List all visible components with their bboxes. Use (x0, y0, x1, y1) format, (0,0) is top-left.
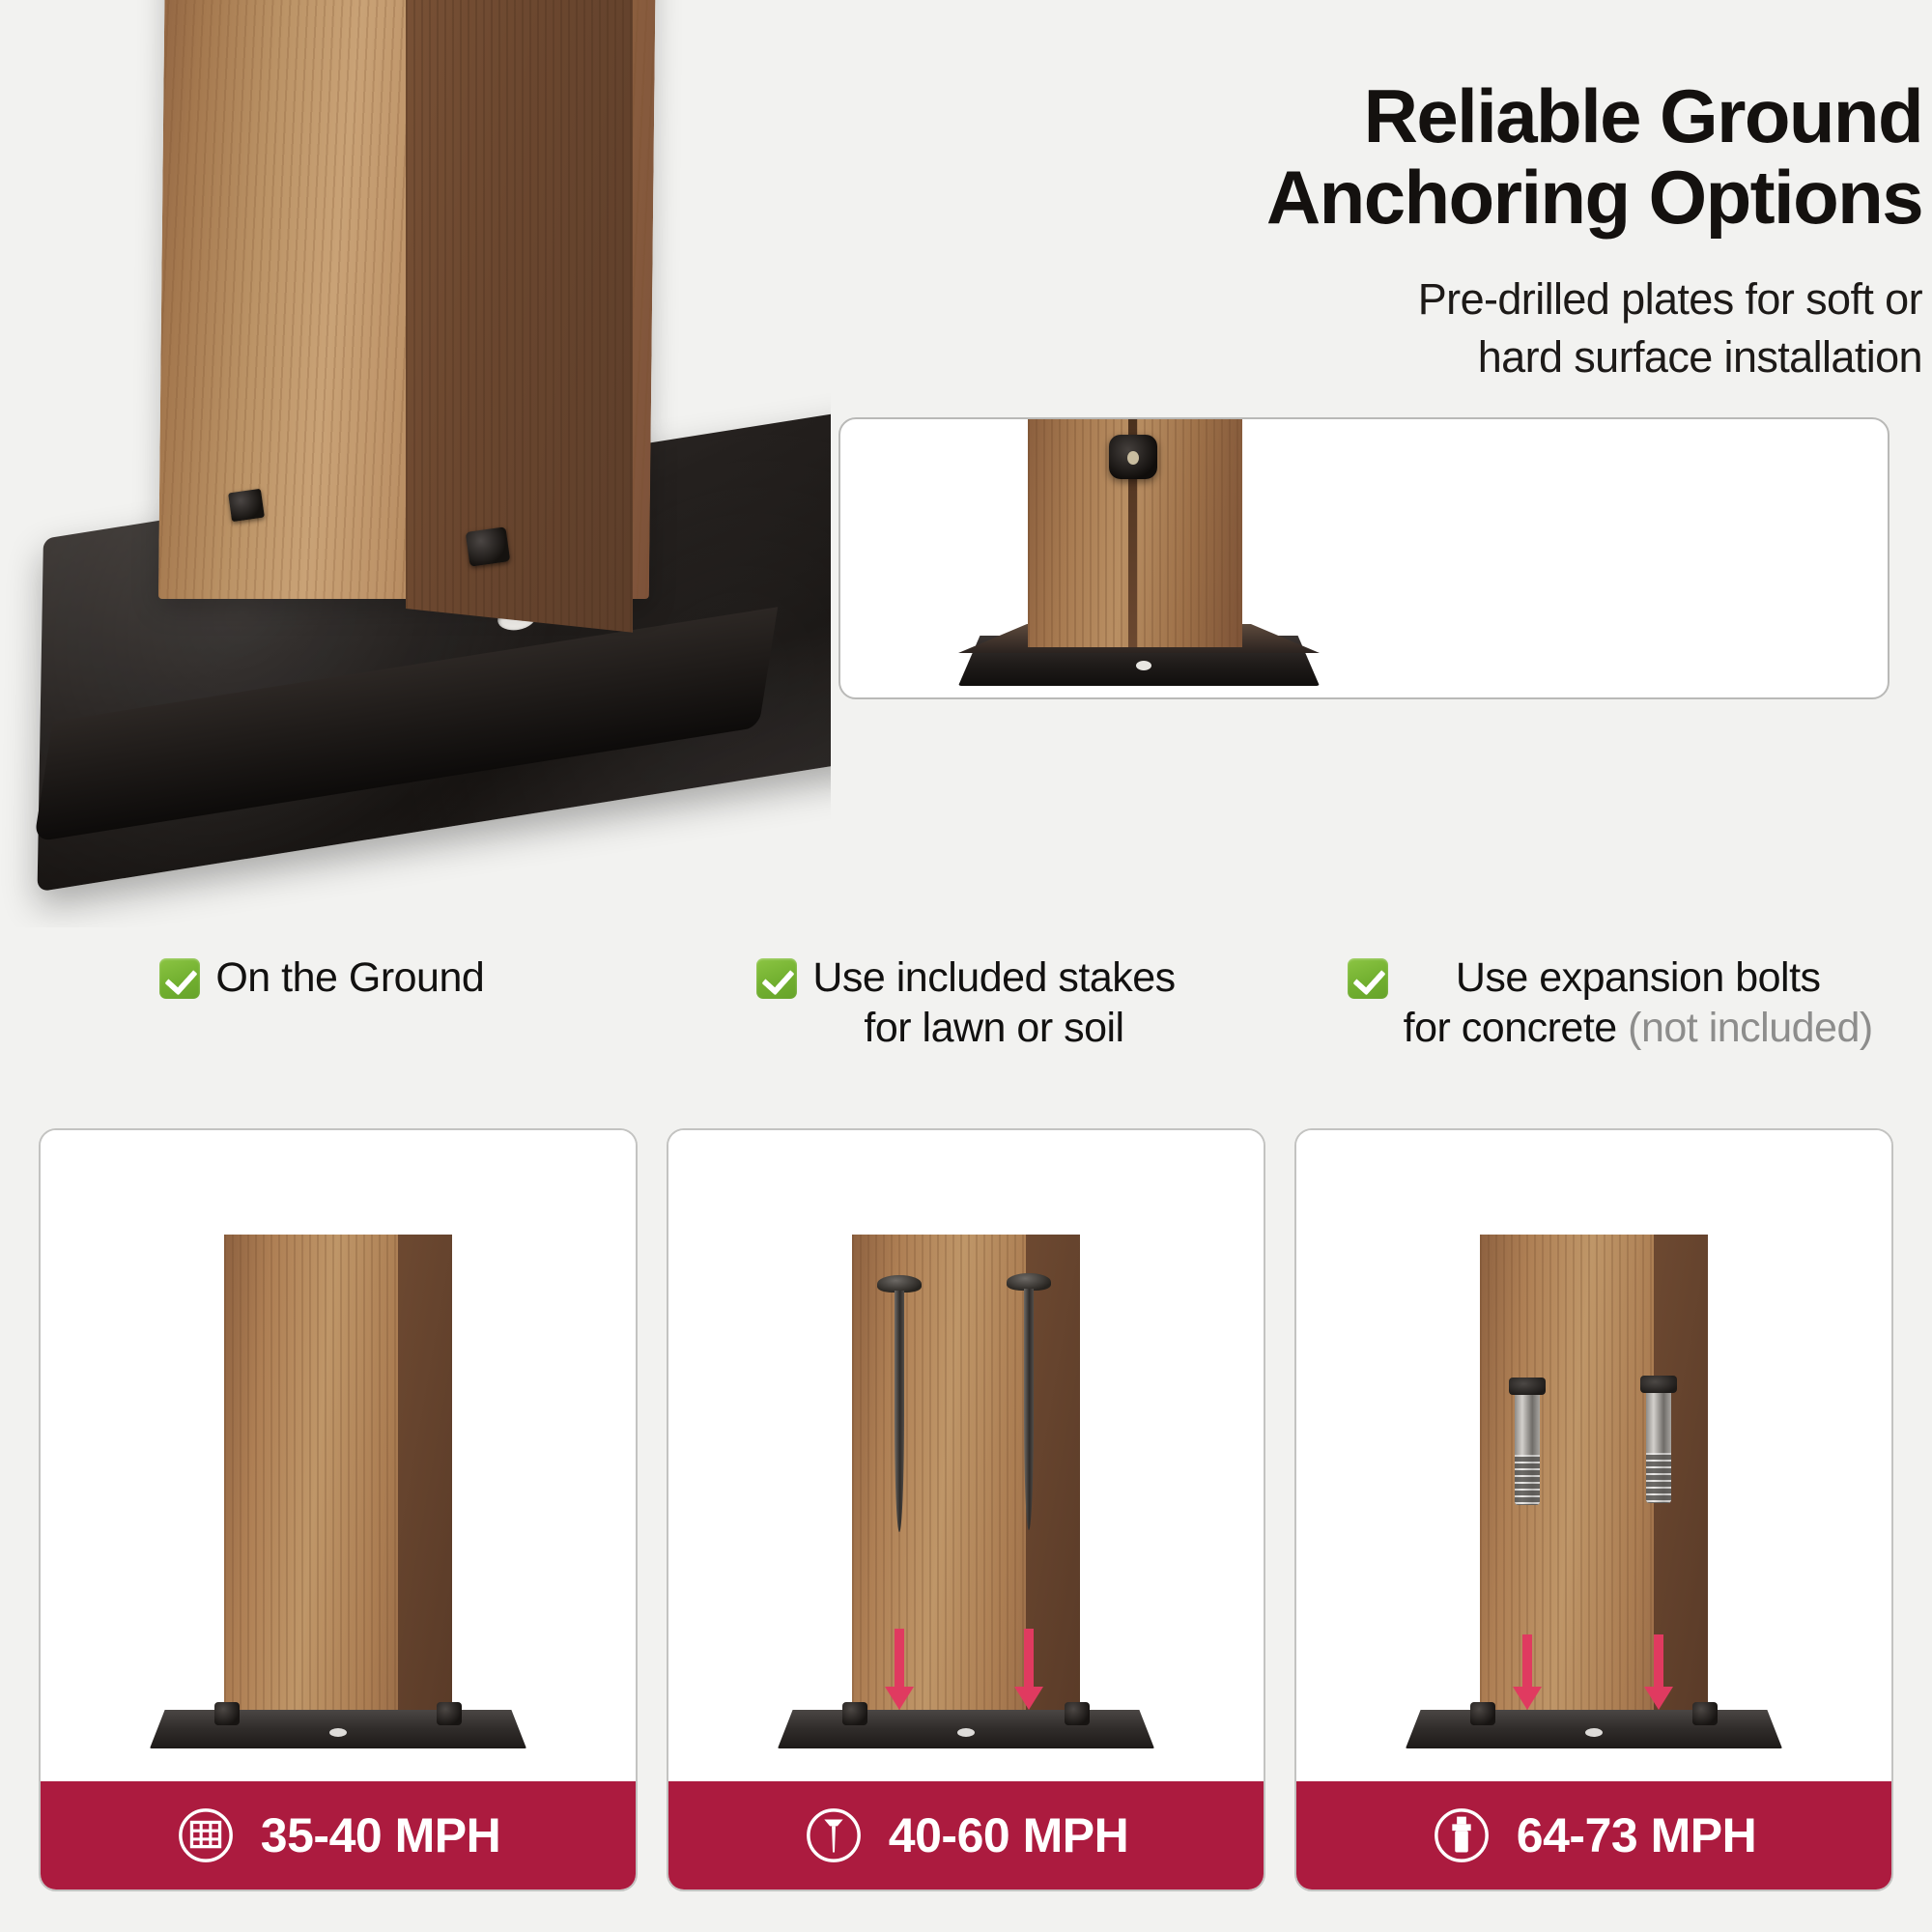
post-bolt-right (1065, 1702, 1090, 1725)
card-stakes[interactable]: 40-60 MPH (667, 1128, 1265, 1891)
wooden-post-shadow-face (398, 1235, 452, 1710)
card-photo-expansion-bolts (1296, 1130, 1891, 1781)
hero-product-photo (0, 0, 831, 927)
banner-wind-rating: 35-40 MPH (41, 1781, 636, 1889)
expansion-bolt-left (1515, 1391, 1540, 1505)
post-bolt-left (214, 1702, 240, 1725)
arrow-head-right (1014, 1687, 1043, 1710)
plate-hole (329, 1728, 347, 1737)
infographic-page: Reliable Ground Anchoring Options Pre-dr… (0, 0, 1932, 1932)
inset-detail-card (838, 417, 1889, 699)
arrow-stem-left (1522, 1634, 1532, 1687)
caption-expansion-bolts: Use expansion bolts for concrete (not in… (1288, 935, 1932, 1128)
card-photo-on-ground (41, 1130, 636, 1781)
caption-label: Use expansion bolts for concrete (not in… (1404, 952, 1873, 1054)
arrow-head-right (1644, 1687, 1673, 1710)
expansion-bolt-right (1646, 1389, 1671, 1503)
bolt-threads (1646, 1453, 1671, 1503)
banner-label: 40-60 MPH (889, 1807, 1128, 1863)
hero-section: Reliable Ground Anchoring Options Pre-dr… (0, 0, 1932, 927)
banner-label: 64-73 MPH (1517, 1807, 1756, 1863)
card-expansion-bolts[interactable]: 64-73 MPH (1294, 1128, 1893, 1891)
expansion-bolt-icon (1432, 1805, 1492, 1865)
caption-row: On the Ground Use included stakes for la… (0, 935, 1932, 1128)
banner-wind-rating: 40-60 MPH (668, 1781, 1264, 1889)
wooden-post-side-face (406, 0, 633, 633)
wooden-post-shadow-face (1026, 1235, 1080, 1710)
page-subtitle: Pre-drilled plates for soft or hard surf… (821, 270, 1922, 386)
card-photo-stakes (668, 1130, 1264, 1781)
anchoring-option-cards: 35-40 MPH (39, 1128, 1893, 1891)
green-check-icon (159, 958, 200, 999)
page-title: Reliable Ground Anchoring Options (821, 75, 1922, 238)
bolt-threads (1515, 1455, 1540, 1505)
post-bolt-left (228, 489, 265, 522)
post-bolt-right (437, 1702, 462, 1725)
caption-on-the-ground: On the Ground (0, 935, 644, 1128)
grid-base-plate-icon (176, 1805, 236, 1865)
caption-label: On the Ground (215, 952, 484, 1003)
arrow-stem-right (1654, 1634, 1663, 1687)
card-on-the-ground[interactable]: 35-40 MPH (39, 1128, 638, 1891)
arrow-stem-right (1024, 1629, 1034, 1687)
banner-wind-rating: 64-73 MPH (1296, 1781, 1891, 1889)
stake-shaft-left (895, 1291, 904, 1532)
arrow-stem-left (895, 1629, 904, 1687)
post-bolt-right (1692, 1702, 1718, 1725)
post-bolt-left (842, 1702, 867, 1725)
green-check-icon (1348, 958, 1388, 999)
post-bolt-left (1470, 1702, 1495, 1725)
headline-block: Reliable Ground Anchoring Options Pre-dr… (821, 75, 1932, 386)
green-check-icon (756, 958, 797, 999)
post-bolt-front (466, 526, 511, 566)
inset-knob-icon (1109, 435, 1157, 479)
stake-nail-icon (804, 1805, 864, 1865)
arrow-head-left (1513, 1687, 1542, 1710)
banner-label: 35-40 MPH (261, 1807, 500, 1863)
plate-hole (1585, 1728, 1603, 1737)
caption-muted-note: (not included) (1628, 1005, 1873, 1051)
plate-hole (957, 1728, 975, 1737)
inset-plate-hole (1136, 661, 1151, 670)
stake-shaft-right (1024, 1289, 1034, 1530)
caption-label: Use included stakes for lawn or soil (812, 952, 1175, 1054)
caption-stakes: Use included stakes for lawn or soil (644, 935, 1289, 1128)
arrow-head-left (885, 1687, 914, 1710)
